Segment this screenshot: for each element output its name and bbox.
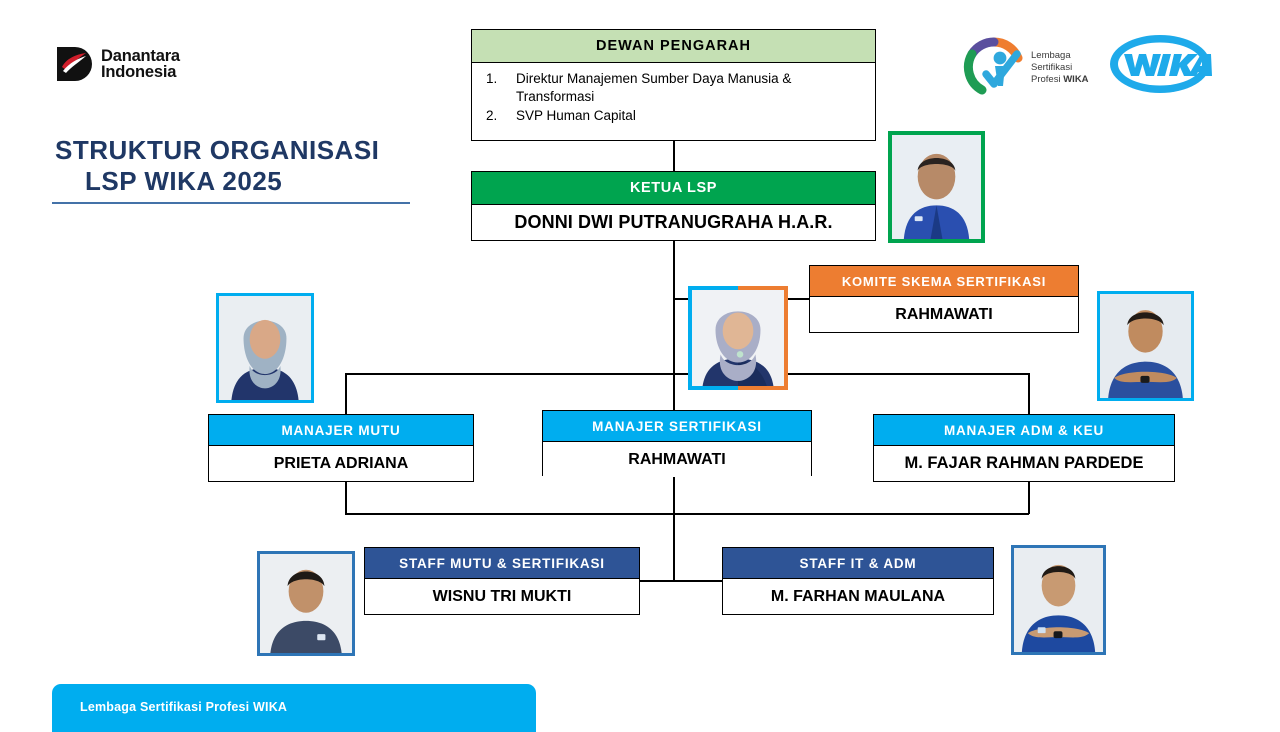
wika-logo-icon: [1108, 33, 1212, 95]
photo-border-top-right: [738, 286, 788, 290]
title-underline-divider: [52, 202, 410, 204]
dewan-item-1-number: 1.: [472, 70, 516, 106]
node-manajer-sertifikasi[interactable]: MANAJER SERTIFIKASI RAHMAWATI: [542, 410, 812, 476]
node-manajer-mutu-name: PRIETA ADRIANA: [209, 446, 473, 481]
photo-staff-mutu-sertifikasi: [257, 551, 355, 656]
node-komite-name: RAHMAWATI: [810, 297, 1078, 332]
node-manajer-sertifikasi-header: MANAJER SERTIFIKASI: [543, 411, 811, 442]
lsp-wika-logo: Lembaga Sertifikasi Profesi WIKA: [962, 32, 1094, 104]
lsp-emblem-icon: [962, 36, 1026, 100]
connector-dewan-to-ketua: [673, 141, 675, 172]
node-staff-mutu-header: STAFF MUTU & SERTIFIKASI: [365, 548, 639, 579]
photo-staff-it-adm-image: [1014, 548, 1103, 652]
wika-logo: [1108, 33, 1212, 95]
photo-manajer-adm-keu-image: [1100, 294, 1191, 398]
node-manajer-adm-keu-name: M. FAJAR RAHMAN PARDEDE: [874, 446, 1174, 481]
photo-manajer-mutu: [216, 293, 314, 403]
photo-ketua-lsp-image: [892, 135, 981, 239]
lsp-line-3: Profesi WIKA: [1031, 74, 1089, 86]
footer-bar: Lembaga Sertifikasi Profesi WIKA: [52, 684, 536, 732]
dewan-item-1-text: Direktur Manajemen Sumber Daya Manusia &…: [516, 70, 875, 106]
node-staff-it-name: M. FARHAN MAULANA: [723, 579, 993, 614]
slide-canvas: Danantara Indonesia STRUKTUR ORGANISASI …: [0, 0, 1280, 720]
page-title-line-2: LSP WIKA 2025: [55, 166, 475, 197]
connector-staff-split: [640, 580, 722, 582]
node-manajer-mutu-header: MANAJER MUTU: [209, 415, 473, 446]
footer-label: Lembaga Sertifikasi Profesi WIKA: [80, 700, 287, 714]
photo-border-left: [688, 286, 692, 390]
connector-to-manajer-adm: [1028, 373, 1030, 415]
list-item: 1. Direktur Manajemen Sumber Daya Manusi…: [472, 70, 875, 106]
dewan-pengarah-list: 1. Direktur Manajemen Sumber Daya Manusi…: [472, 70, 875, 126]
danantara-line-2: Indonesia: [101, 64, 180, 81]
node-manajer-adm-keu-header: MANAJER ADM & KEU: [874, 415, 1174, 446]
photo-ketua-lsp: [888, 131, 985, 243]
list-item: 2. SVP Human Capital: [472, 107, 875, 125]
node-staff-it-header: STAFF IT & ADM: [723, 548, 993, 579]
connector-manajer-adm-down: [1028, 481, 1030, 514]
connector-staff-spine: [673, 513, 675, 581]
lsp-line-2: Sertifikasi: [1031, 62, 1089, 74]
lsp-line-1: Lembaga: [1031, 50, 1089, 62]
node-staff-mutu-name: WISNU TRI MUKTI: [365, 579, 639, 614]
photo-border-bottom-right: [738, 386, 788, 390]
node-dewan-pengarah-body: 1. Direktur Manajemen Sumber Daya Manusi…: [472, 63, 875, 140]
node-komite-header: KOMITE SKEMA SERTIFIKASI: [810, 266, 1078, 297]
connector-ketua-spine: [673, 241, 675, 416]
photo-border-right: [784, 286, 788, 390]
node-manajer-sertifikasi-name: RAHMAWATI: [543, 442, 811, 477]
node-manajer-adm-keu[interactable]: MANAJER ADM & KEU M. FAJAR RAHMAN PARDED…: [873, 414, 1175, 482]
node-staff-mutu-sertifikasi[interactable]: STAFF MUTU & SERTIFIKASI WISNU TRI MUKTI: [364, 547, 640, 615]
photo-staff-mutu-image: [260, 554, 352, 653]
node-dewan-pengarah-header: DEWAN PENGARAH: [472, 30, 875, 63]
connector-manager-bus: [345, 373, 1029, 375]
node-ketua-lsp[interactable]: KETUA LSP DONNI DWI PUTRANUGRAHA H.A.R.: [471, 171, 876, 241]
photo-manajer-sertifikasi: [688, 286, 788, 390]
node-manajer-mutu[interactable]: MANAJER MUTU PRIETA ADRIANA: [208, 414, 474, 482]
danantara-mark-icon: [55, 45, 93, 83]
page-title-line-1: STRUKTUR ORGANISASI: [55, 135, 475, 166]
danantara-line-1: Danantara: [101, 48, 180, 65]
node-staff-it-adm[interactable]: STAFF IT & ADM M. FARHAN MAULANA: [722, 547, 994, 615]
photo-border-bottom-left: [688, 386, 738, 390]
photo-border-top-left: [688, 286, 738, 290]
photo-manajer-adm-keu: [1097, 291, 1194, 401]
photo-staff-it-adm: [1011, 545, 1106, 655]
connector-manajer-mutu-down: [345, 481, 347, 514]
danantara-logo: Danantara Indonesia: [55, 42, 255, 86]
dewan-item-2-number: 2.: [472, 107, 516, 125]
connector-staff-bus: [345, 513, 1029, 515]
lsp-wordmark: Lembaga Sertifikasi Profesi WIKA: [1031, 50, 1089, 86]
photo-manajer-mutu-image: [219, 296, 311, 400]
connector-manajer-sert-down: [673, 475, 675, 514]
node-ketua-lsp-name: DONNI DWI PUTRANUGRAHA H.A.R.: [472, 205, 875, 240]
node-komite-skema-sertifikasi[interactable]: KOMITE SKEMA SERTIFIKASI RAHMAWATI: [809, 265, 1079, 333]
node-ketua-lsp-header: KETUA LSP: [472, 172, 875, 205]
photo-manajer-sertifikasi-image: [692, 290, 784, 386]
danantara-wordmark: Danantara Indonesia: [101, 48, 180, 81]
dewan-item-2-text: SVP Human Capital: [516, 107, 875, 125]
page-title: STRUKTUR ORGANISASI LSP WIKA 2025: [55, 135, 475, 196]
node-dewan-pengarah[interactable]: DEWAN PENGARAH 1. Direktur Manajemen Sum…: [471, 29, 876, 141]
connector-to-manajer-mutu: [345, 373, 347, 415]
